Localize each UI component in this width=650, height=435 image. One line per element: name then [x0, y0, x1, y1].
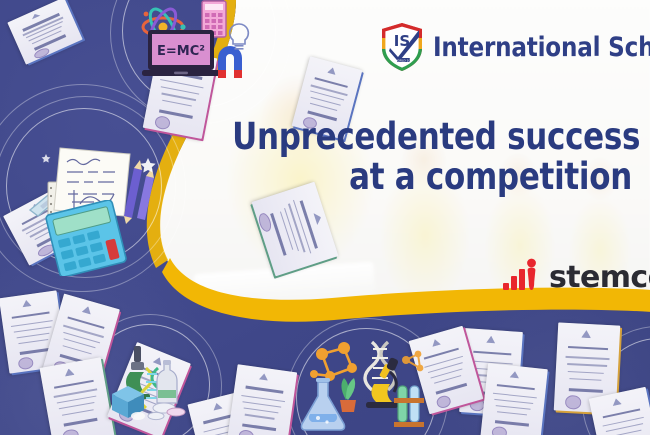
molecule-icon	[402, 351, 423, 372]
headline-line-1: Unprecedented success	[232, 118, 632, 156]
star-icon	[42, 154, 51, 163]
test-tube-icon	[394, 386, 424, 427]
certificate-title-line	[603, 408, 640, 418]
certificate-seal-icon	[238, 429, 255, 435]
star-icon	[140, 158, 155, 173]
shield-ribbon-text: WORLD 100	[395, 58, 413, 62]
certificate-crest-icon	[30, 12, 41, 20]
lightbulb-icon	[226, 22, 252, 52]
certificate-award-line	[270, 213, 286, 255]
certificate-crest-icon	[259, 373, 269, 381]
certificate-crest-icon	[581, 330, 591, 338]
petri-dish-icon	[148, 403, 185, 420]
certificate-card	[227, 364, 297, 435]
flask-icon	[302, 378, 345, 430]
chemistry-cluster	[300, 338, 432, 435]
certificate-card	[480, 363, 548, 435]
certificate-seal-icon	[18, 357, 34, 371]
certificate-text-line	[244, 414, 274, 420]
stemco-logo[interactable]: stemco	[503, 258, 650, 292]
certificate-crest-icon	[611, 398, 621, 407]
certificate-text-line	[493, 393, 536, 399]
certificate-text-line	[494, 399, 533, 404]
certificate-text-line	[19, 339, 48, 344]
molecule-icon	[310, 342, 357, 381]
bottle-icon	[157, 360, 177, 403]
certificate-award-line	[63, 418, 98, 427]
certificate-seal-icon	[491, 426, 507, 435]
certificate-text-line	[565, 356, 610, 360]
certificate-crest-icon	[510, 371, 520, 379]
certificate-text-line	[568, 371, 604, 374]
certificate-title-line	[300, 200, 318, 248]
certificate-crest-icon	[64, 368, 75, 377]
certificate-text-line	[162, 100, 192, 107]
certificate-title-line	[54, 380, 94, 389]
certificate-seal-icon	[62, 428, 80, 435]
stemco-mark-icon	[503, 258, 543, 292]
certificate-text-line	[570, 378, 602, 381]
calculator-blue-icon	[38, 200, 138, 276]
certificate-seal-icon	[154, 115, 171, 130]
certificate-text-line	[497, 411, 528, 415]
certificate-crest-icon	[212, 402, 223, 411]
certificate-text-line	[567, 363, 607, 366]
international-school-logo[interactable]: IS WORLD 100 International School	[380, 22, 650, 72]
certificate-text-line	[496, 405, 531, 410]
biology-cluster	[106, 342, 192, 428]
certificate-award-line	[495, 420, 529, 426]
certificate-title-line	[12, 311, 49, 319]
certificate-title-line	[245, 386, 283, 394]
certificate-crest-icon	[486, 335, 496, 343]
certificate-seal-icon	[565, 395, 581, 409]
certificate-text-line	[14, 326, 52, 333]
certificate-text-line	[62, 409, 93, 416]
certificate-text-line	[244, 408, 279, 414]
certificate-seal-icon	[435, 394, 452, 409]
certificate-text-line	[243, 401, 282, 408]
certificate-crest-icon	[327, 66, 337, 74]
stemco-wordmark: stemco	[549, 264, 650, 292]
plant-icon	[340, 378, 356, 412]
headline-line-2: at a competition	[232, 158, 632, 196]
mouse-icon	[131, 412, 145, 420]
certificate-award-line	[568, 388, 603, 393]
certificate-crest-icon	[431, 338, 441, 347]
certificate-crest-icon	[82, 305, 93, 314]
svg-text:E=MC²: E=MC²	[157, 44, 205, 59]
shield-icon: IS WORLD 100	[380, 22, 424, 72]
brand-name: International School	[433, 32, 650, 63]
laptop-icon: E=MC²	[140, 28, 222, 80]
certificate-title-line	[568, 346, 608, 351]
certificate-award-line	[436, 383, 467, 395]
certificate-title-line	[474, 351, 511, 356]
promo-banner: E=MC²	[0, 0, 650, 435]
certificate-text-line	[16, 333, 49, 339]
certificate-crest-icon	[22, 299, 32, 307]
certificate-crest-icon	[313, 211, 322, 225]
certificate-title-line	[497, 384, 535, 391]
page-title: Unprecedented success at a competition	[202, 118, 632, 197]
